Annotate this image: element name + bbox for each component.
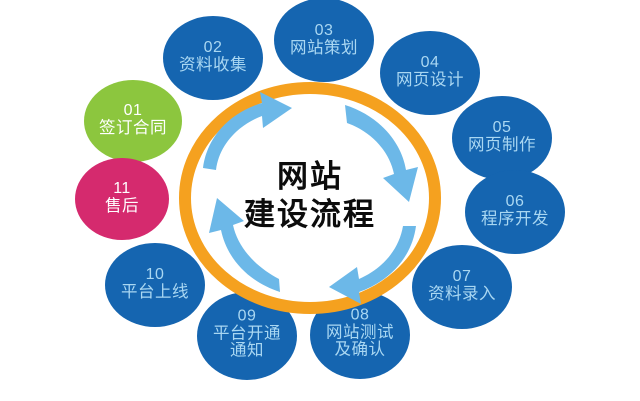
diagram-canvas xyxy=(0,0,640,401)
node-ellipse-11[interactable] xyxy=(75,158,169,240)
website-build-process-diagram: 01签订合同02资料收集03网站策划04网页设计05网页制作06程序开发07资料… xyxy=(0,0,640,401)
node-ellipse-02[interactable] xyxy=(163,16,263,100)
node-ellipse-06[interactable] xyxy=(465,170,565,254)
node-ellipse-07[interactable] xyxy=(412,245,512,329)
node-ellipse-10[interactable] xyxy=(105,243,205,327)
node-ellipse-01[interactable] xyxy=(84,80,182,162)
node-ellipse-05[interactable] xyxy=(452,96,552,180)
node-ellipse-04[interactable] xyxy=(380,31,480,115)
node-ellipse-03[interactable] xyxy=(274,0,374,82)
